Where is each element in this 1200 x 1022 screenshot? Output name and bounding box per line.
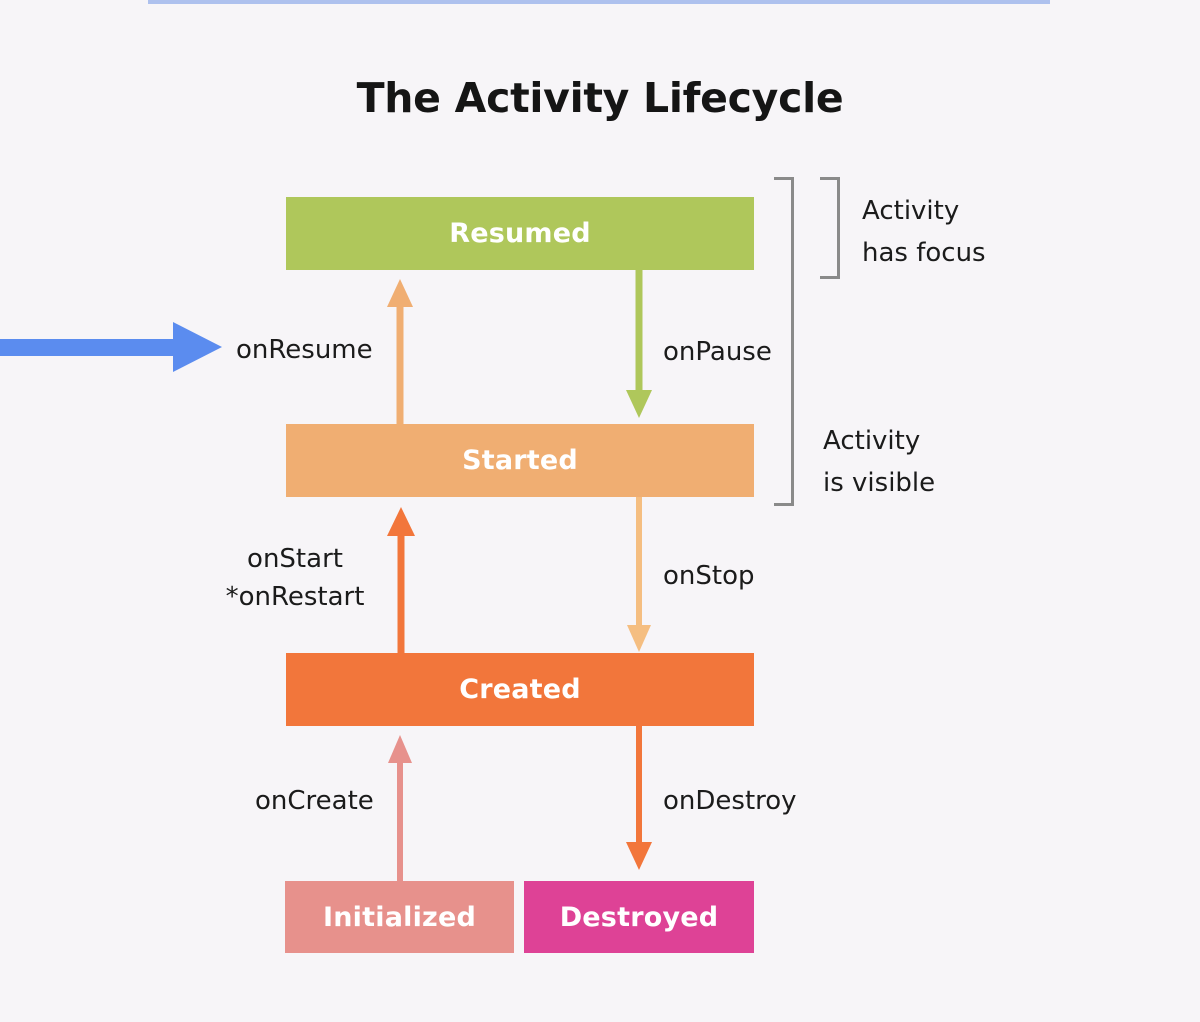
annotation-is-visible: Activity is visible (823, 421, 935, 504)
state-box-created[interactable]: Created (286, 653, 754, 726)
transition-label-onresume: onResume (236, 332, 373, 370)
top-accent-rule (148, 0, 1050, 4)
bracket-activity-has-focus (820, 177, 840, 279)
state-box-initialized[interactable]: Initialized (285, 881, 514, 953)
arrow-onstop (627, 497, 651, 652)
state-box-started[interactable]: Started (286, 424, 754, 497)
state-label-initialized: Initialized (323, 902, 476, 933)
state-box-resumed[interactable]: Resumed (286, 197, 754, 270)
page-title: The Activity Lifecycle (0, 74, 1200, 122)
transition-label-onstart: onStart *onRestart (205, 541, 385, 616)
arrow-onpause (626, 270, 652, 418)
state-box-destroyed[interactable]: Destroyed (524, 881, 754, 953)
state-label-started: Started (462, 445, 578, 476)
arrow-onresume (387, 279, 413, 424)
transition-label-onpause: onPause (663, 334, 772, 372)
transition-label-ondestroy: onDestroy (663, 783, 797, 821)
blue-arrow-pointer (0, 300, 260, 400)
annotation-has-focus: Activity has focus (862, 191, 986, 274)
arrow-ondestroy (626, 726, 652, 870)
transition-arrow-layer (0, 0, 1200, 1022)
arrow-oncreate (388, 735, 412, 881)
state-label-destroyed: Destroyed (560, 902, 719, 933)
state-label-resumed: Resumed (449, 218, 591, 249)
bracket-activity-is-visible (774, 177, 794, 506)
transition-label-onstop: onStop (663, 558, 755, 596)
diagram-canvas: The Activity Lifecycle (0, 0, 1200, 1022)
arrow-onstart (387, 507, 415, 653)
state-label-created: Created (459, 674, 581, 705)
transition-label-oncreate: onCreate (255, 783, 374, 821)
